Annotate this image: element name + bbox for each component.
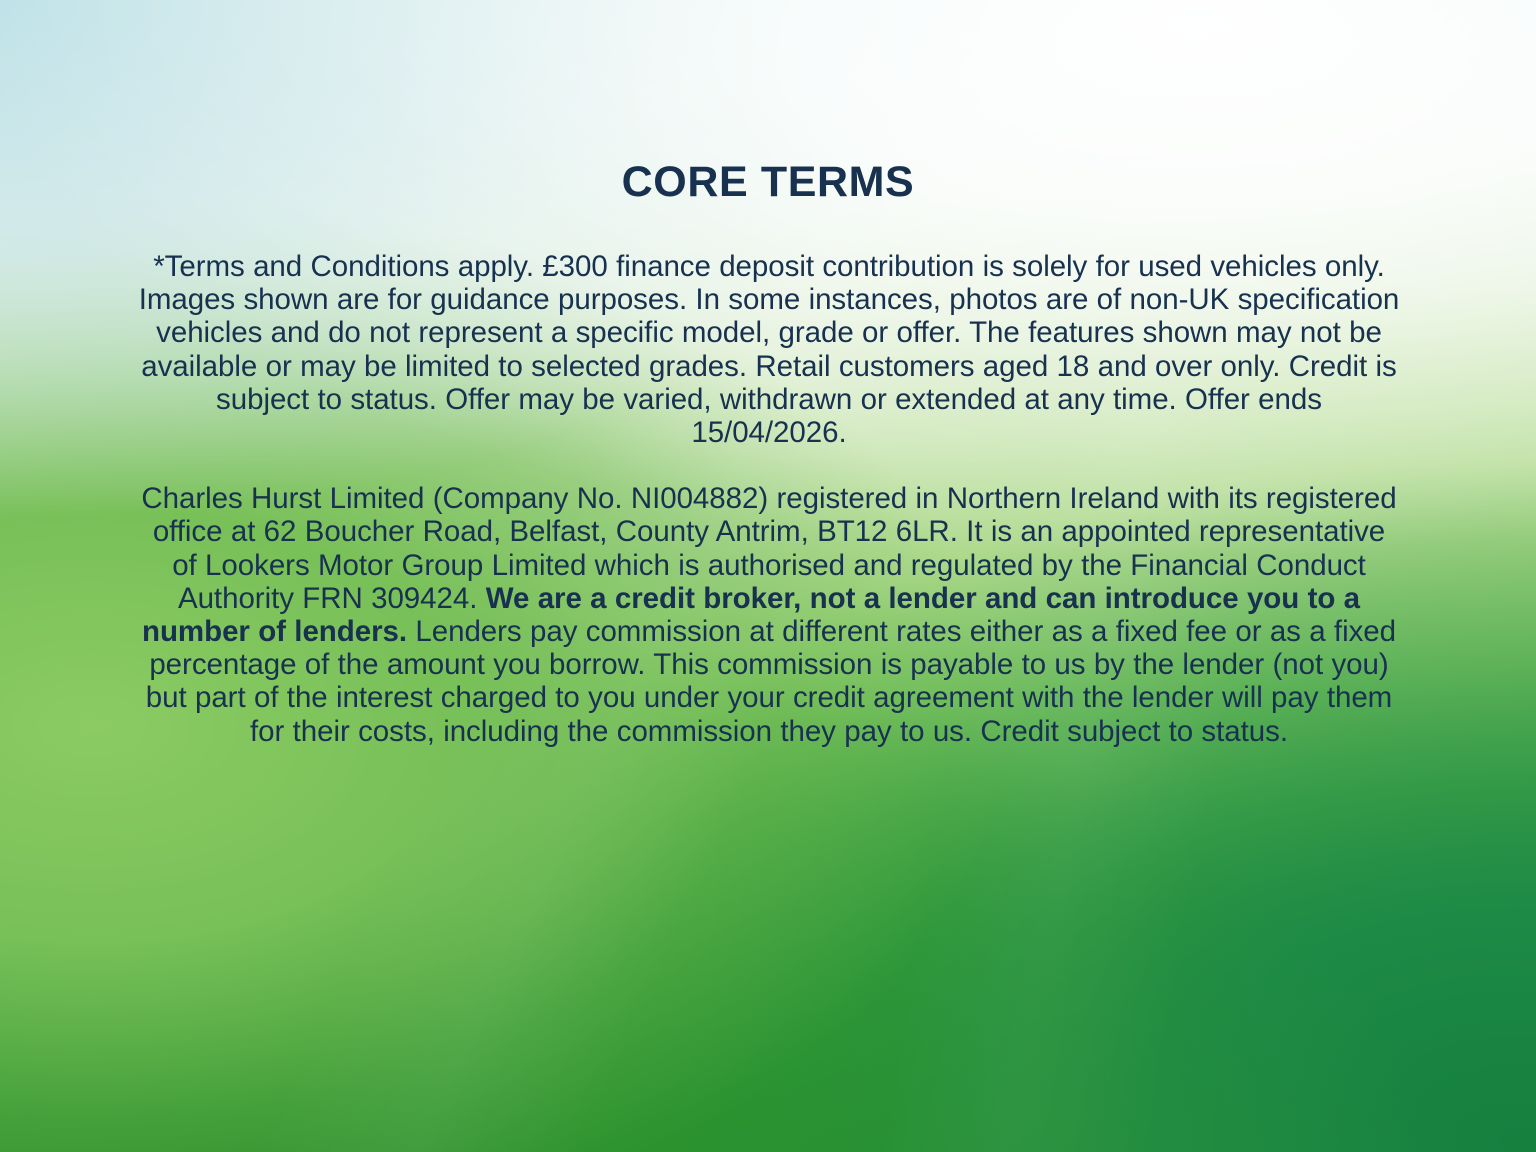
terms-body: *Terms and Conditions apply. £300 financ… [138,250,1400,748]
company-disclosure-paragraph: Charles Hurst Limited (Company No. NI004… [138,482,1400,748]
offer-terms-paragraph: *Terms and Conditions apply. £300 financ… [138,250,1400,449]
page-title: CORE TERMS [0,158,1536,207]
terms-slide: CORE TERMS *Terms and Conditions apply. … [0,0,1536,1152]
